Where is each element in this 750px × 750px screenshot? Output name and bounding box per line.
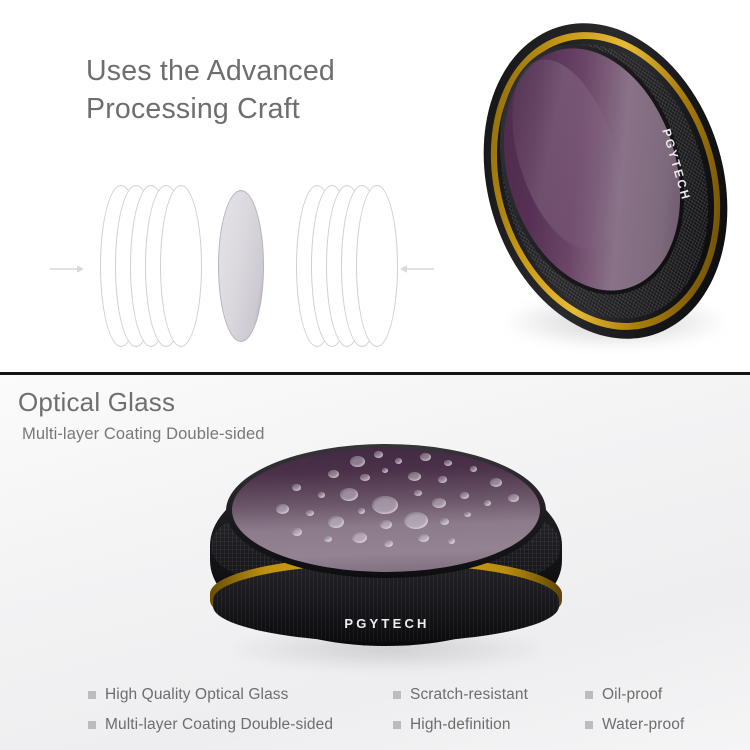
feature-item: High Quality Optical Glass: [88, 686, 289, 704]
water-droplet: [276, 504, 289, 514]
water-droplet: [420, 453, 431, 461]
water-droplet: [484, 500, 491, 506]
water-droplet: [418, 534, 429, 542]
water-droplet: [292, 484, 301, 491]
optical-glass-section: Optical Glass Multi-layer Coating Double…: [0, 375, 750, 750]
section-title: Optical Glass: [18, 387, 175, 418]
water-droplet: [382, 468, 388, 473]
bullet-square-icon: [88, 691, 96, 699]
arrow-left-icon: [400, 264, 434, 274]
water-droplet: [352, 532, 367, 543]
bullet-square-icon: [88, 721, 96, 729]
water-droplet: [318, 492, 325, 498]
water-droplet: [374, 451, 383, 458]
advanced-processing-section: Uses the Advanced Processing Craft: [0, 0, 750, 372]
lens-filter-product-photo-waterdrops: PGYTECH: [196, 430, 578, 670]
feature-label: High-definition: [410, 716, 511, 734]
water-droplet: [508, 494, 519, 502]
water-droplet: [328, 470, 339, 478]
coating-stack-right: [296, 180, 416, 352]
water-droplet: [440, 518, 449, 525]
water-droplet: [306, 510, 314, 516]
water-droplet: [324, 536, 332, 542]
water-droplet: [358, 508, 365, 514]
feature-list: High Quality Optical Glass Scratch-resis…: [0, 680, 750, 746]
bullet-square-icon: [393, 691, 401, 699]
water-droplet: [408, 472, 421, 481]
section-headline: Uses the Advanced Processing Craft: [86, 52, 416, 128]
water-droplet: [448, 538, 455, 544]
water-droplet: [380, 520, 392, 529]
water-droplet: [372, 496, 398, 514]
feature-item: Multi-layer Coating Double-sided: [88, 716, 333, 734]
arrow-right-icon: [50, 264, 84, 274]
water-droplet: [432, 498, 446, 508]
water-droplet: [340, 488, 358, 501]
feature-label: Scratch-resistant: [410, 686, 528, 704]
water-droplet: [464, 512, 471, 517]
brand-logo-text: PGYTECH: [324, 616, 450, 631]
lens-filter-product-photo-angled: PGYTECH: [470, 4, 750, 372]
feature-label: High Quality Optical Glass: [105, 686, 289, 704]
water-droplet: [438, 476, 447, 483]
lens-filter-body: [446, 0, 750, 369]
product-marketing-image: Uses the Advanced Processing Craft: [0, 0, 750, 750]
water-droplet: [414, 490, 422, 496]
water-droplet: [404, 512, 428, 529]
coating-layer: [160, 185, 202, 347]
headline-line-2: Processing Craft: [86, 90, 416, 128]
feature-item: High-definition: [393, 716, 511, 734]
coating-layer: [356, 185, 398, 347]
coating-stack-left: [100, 180, 220, 352]
feature-item: Scratch-resistant: [393, 686, 528, 704]
water-droplet: [360, 474, 370, 481]
headline-line-1: Uses the Advanced: [86, 52, 416, 90]
water-droplet: [292, 528, 302, 536]
feature-label: Water-proof: [602, 716, 684, 734]
water-droplet: [384, 540, 393, 547]
bullet-square-icon: [585, 691, 593, 699]
water-droplet: [490, 478, 502, 487]
bullet-square-icon: [585, 721, 593, 729]
water-droplet: [460, 492, 469, 499]
water-droplet: [350, 456, 365, 467]
water-droplet: [470, 466, 477, 472]
water-droplet: [444, 460, 452, 466]
feature-label: Multi-layer Coating Double-sided: [105, 716, 333, 734]
feature-item: Oil-proof: [585, 686, 662, 704]
feature-label: Oil-proof: [602, 686, 662, 704]
water-droplet: [328, 516, 344, 528]
bullet-square-icon: [393, 721, 401, 729]
feature-item: Water-proof: [585, 716, 684, 734]
optical-glass-core: [218, 190, 264, 342]
water-droplet: [395, 458, 402, 464]
multi-layer-coating-diagram: [48, 180, 458, 372]
optical-glass-face: [232, 448, 540, 572]
